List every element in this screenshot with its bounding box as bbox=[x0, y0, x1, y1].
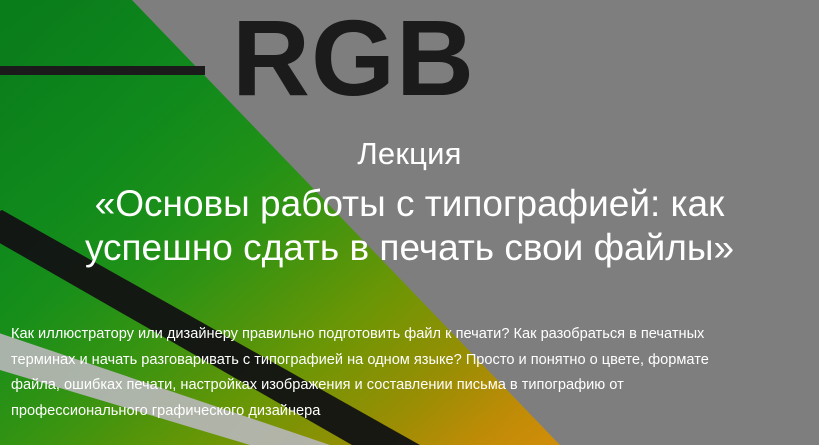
lecture-banner: RGB Лекция «Основы работы с типографией:… bbox=[0, 0, 819, 445]
page-title-line-2: успешно сдать в печать свои файлы» bbox=[0, 226, 819, 270]
brand-wordmark: RGB bbox=[232, 4, 475, 112]
lecture-kicker: Лекция bbox=[0, 138, 819, 171]
description-line-4: профессионального графического дизайнера bbox=[11, 399, 801, 425]
page-title-line-1: «Основы работы с типографией: как bbox=[0, 182, 819, 226]
description-line-1: Как иллюстратору или дизайнеру правильно… bbox=[11, 322, 801, 348]
description-line-3: файла, ошибках печати, настройках изобра… bbox=[11, 373, 801, 399]
brand-lockup: RGB bbox=[0, 0, 819, 130]
horizontal-rule-icon bbox=[0, 66, 205, 75]
page-title: «Основы работы с типографией: как успешн… bbox=[0, 182, 819, 270]
description-line-2: терминах и начать разговаривать с типогр… bbox=[11, 348, 801, 374]
lecture-description: Как иллюстратору или дизайнеру правильно… bbox=[11, 322, 801, 424]
